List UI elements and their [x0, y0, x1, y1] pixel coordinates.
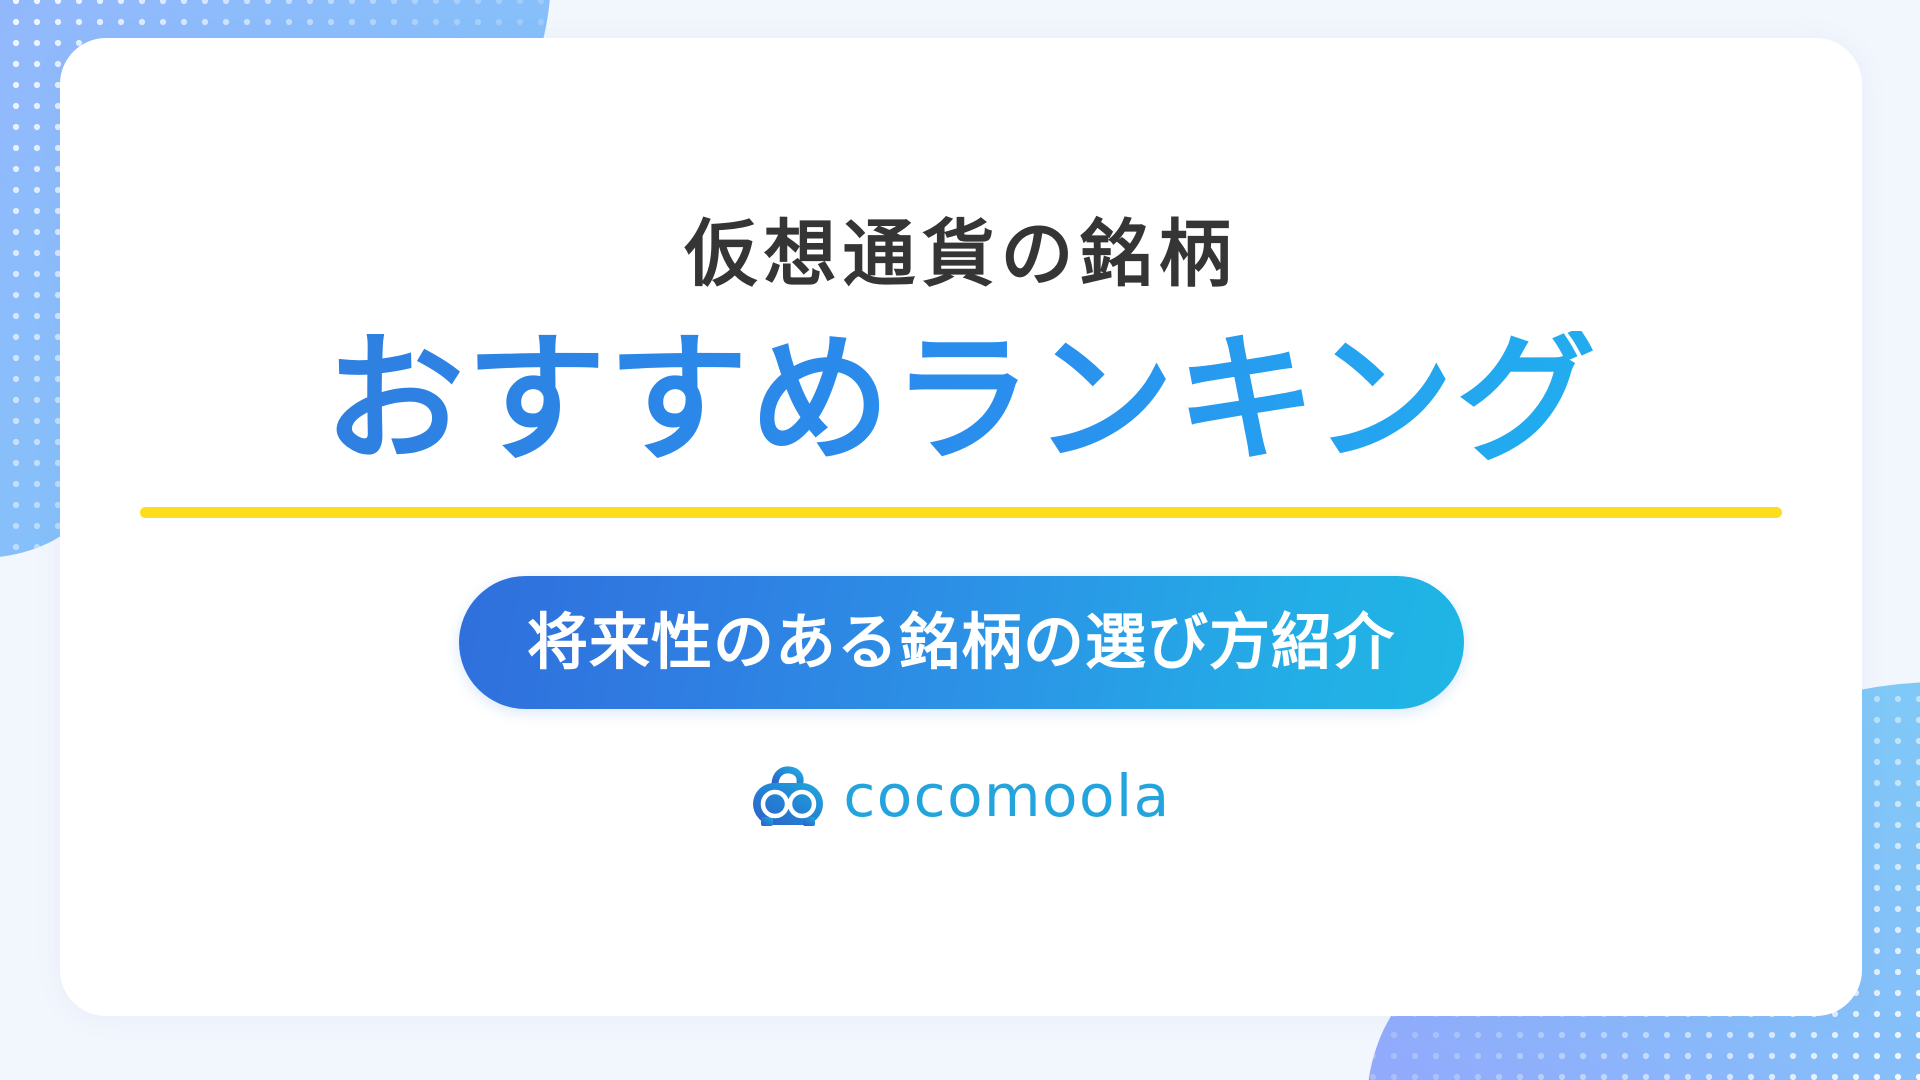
- hero-content: 仮想通貨の銘柄 おすすめランキング 将来性のある銘柄の選び方紹介: [60, 38, 1862, 1016]
- cta-pill-label: 将来性のある銘柄の選び方紹介: [527, 612, 1395, 673]
- poster-canvas: 仮想通貨の銘柄 おすすめランキング 将来性のある銘柄の選び方紹介: [0, 0, 1920, 1080]
- brand-logo[interactable]: cocomoola: [751, 765, 1170, 827]
- hero-divider: [140, 507, 1782, 518]
- cocomoola-piggy-bank-icon: [751, 765, 825, 827]
- cta-pill[interactable]: 将来性のある銘柄の選び方紹介: [459, 576, 1464, 709]
- brand-wordmark: cocomoola: [843, 767, 1170, 825]
- hero-eyebrow: 仮想通貨の銘柄: [685, 218, 1238, 291]
- hero-headline: おすすめランキング: [324, 331, 1598, 471]
